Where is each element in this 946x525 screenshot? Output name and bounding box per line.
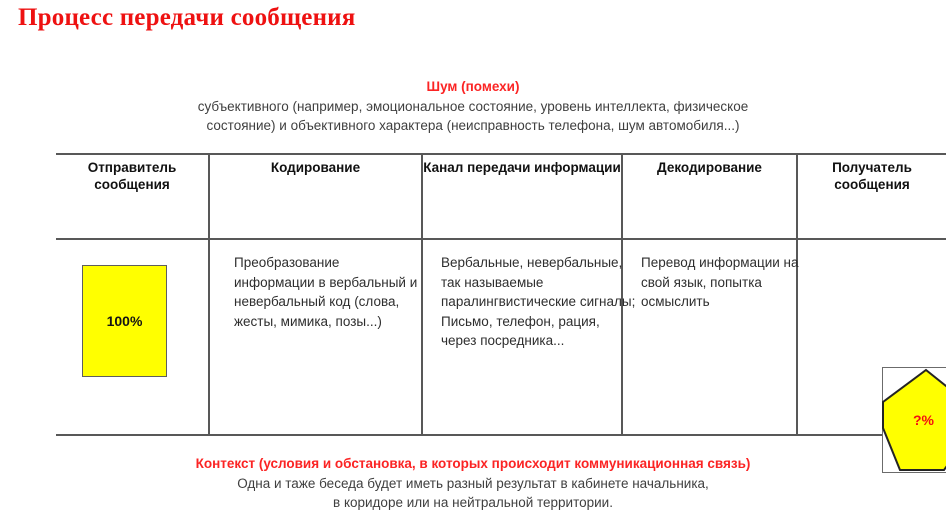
column-header-channel: Канал передачи информации: [423, 159, 621, 176]
context-description: Одна и таже беседа будет иметь разный ре…: [0, 474, 946, 512]
column-header-encoding: Кодирование: [210, 159, 421, 176]
noise-heading: Шум (помехи): [0, 78, 946, 96]
noise-description-line-2: состояние) и объективного характера (неи…: [0, 116, 946, 135]
column-header-decoding: Декодирование: [623, 159, 796, 176]
receiver-cell: ?%: [798, 253, 946, 393]
table-bottom-border: [56, 434, 946, 436]
cell-channel-text: Вербальные, невербальные, так называемые…: [441, 253, 636, 351]
table-header-divider: [56, 238, 946, 240]
column-header-receiver: Получатель сообщения: [798, 159, 946, 193]
cell-encoding-text: Преобразование информации в вербальный и…: [234, 253, 419, 331]
noise-description-line-1: субъективного (например, эмоциональное с…: [0, 97, 946, 116]
context-heading: Контекст (условия и обстановка, в которы…: [0, 455, 946, 473]
cell-decoding-text: Перевод информации на свой язык, попытка…: [641, 253, 801, 312]
noise-description: субъективного (например, эмоциональное с…: [0, 97, 946, 135]
sender-percentage-label: 100%: [107, 313, 143, 329]
receiver-percentage-label: ?%: [882, 411, 946, 431]
context-description-line-2: в коридоре или на нейтральной территории…: [0, 493, 946, 512]
context-block: Контекст (условия и обстановка, в которы…: [0, 455, 946, 512]
page-title: Процесс передачи сообщения: [18, 4, 356, 32]
table-column-divider-1: [208, 154, 210, 435]
column-header-sender: Отправитель сообщения: [56, 159, 208, 193]
sender-message-shape: 100%: [82, 265, 167, 377]
context-description-line-1: Одна и таже беседа будет иметь разный ре…: [0, 474, 946, 493]
noise-block: Шум (помехи) субъективного (например, эм…: [0, 78, 946, 135]
process-table: Отправитель сообщения Кодирование Канал …: [56, 153, 946, 435]
table-column-divider-2: [421, 154, 423, 435]
table-top-border: [56, 153, 946, 155]
